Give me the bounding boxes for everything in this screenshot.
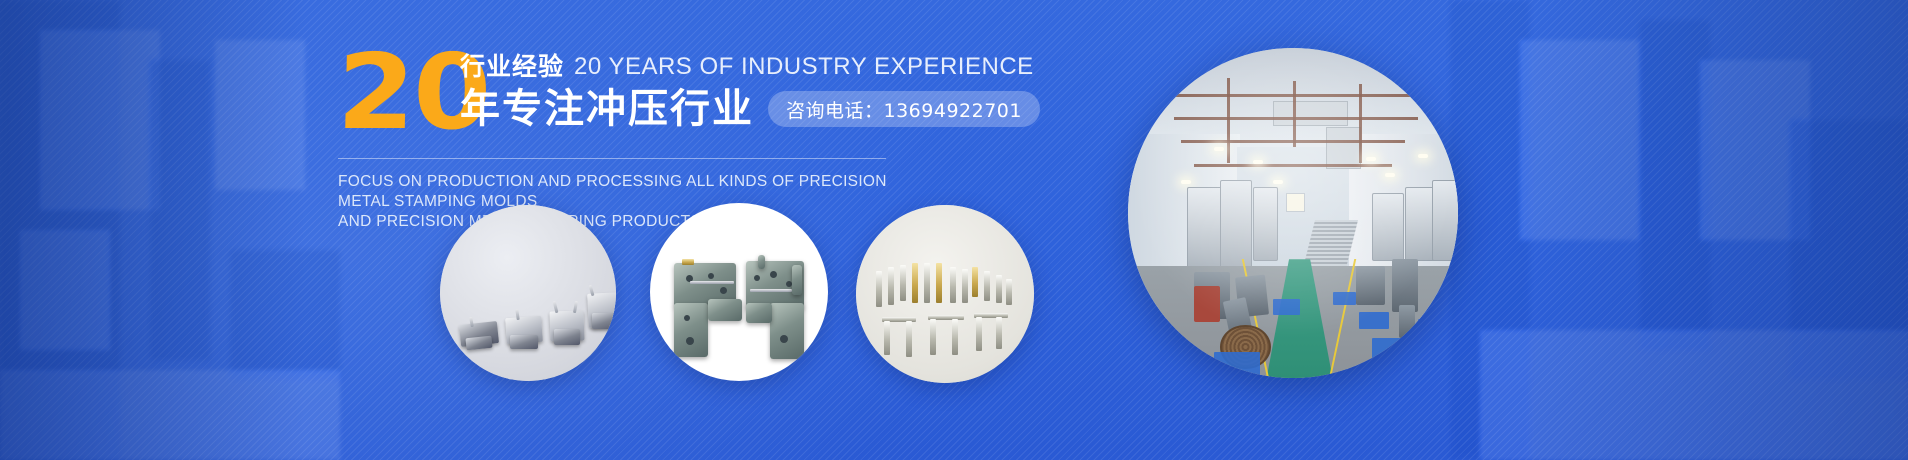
headline-text-group: 行业经验 20 YEARS OF INDUSTRY EXPERIENCE 年专注… (460, 44, 1040, 131)
horizontal-divider (338, 158, 886, 159)
terminal-pins-photo (856, 205, 1034, 383)
product-circle-terminal-pins[interactable] (856, 205, 1034, 383)
promo-banner: 20 行业经验 20 YEARS OF INDUSTRY EXPERIENCE … (0, 0, 1908, 460)
product-circle-usb-connectors[interactable] (440, 205, 616, 381)
headline-cn-small: 行业经验 (460, 54, 564, 80)
headline-en-small: 20 YEARS OF INDUSTRY EXPERIENCE (574, 54, 1034, 80)
product-circle-stamping-mold[interactable] (650, 203, 828, 381)
headline-line-2: 年专注冲压行业 咨询电话：13694922701 (460, 87, 1040, 131)
phone-badge[interactable]: 咨询电话：13694922701 (768, 91, 1040, 127)
headline-row: 20 行业经验 20 YEARS OF INDUSTRY EXPERIENCE … (338, 44, 898, 144)
factory-workshop-photo[interactable] (1128, 48, 1458, 378)
headline-line-1: 行业经验 20 YEARS OF INDUSTRY EXPERIENCE (460, 44, 1040, 80)
headline-cn-large: 年专注冲压行业 (460, 87, 754, 131)
stamping-mold-photo (650, 203, 828, 381)
usb-connectors-photo (440, 205, 616, 381)
